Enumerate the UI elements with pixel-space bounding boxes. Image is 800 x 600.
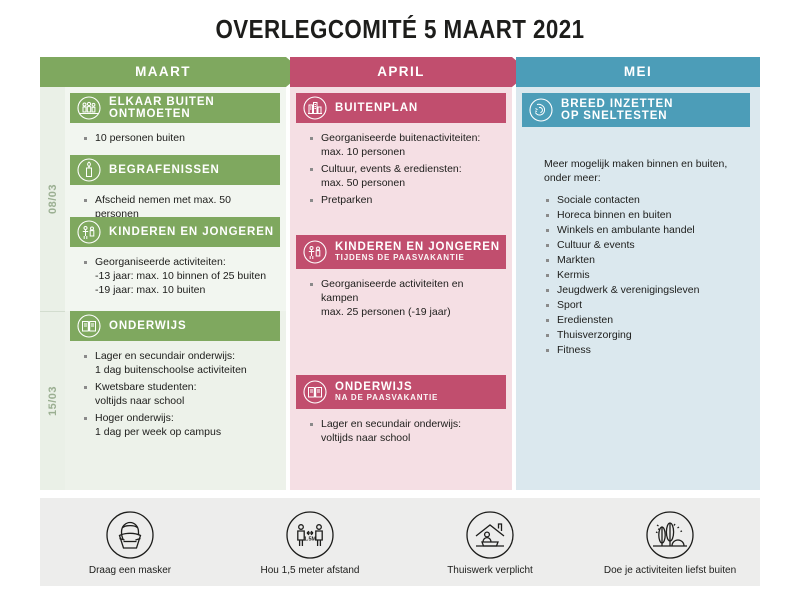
measure-label: Hou 1,5 meter afstand [261, 565, 360, 576]
card-onderwijs-maart[interactable]: ONDERWIJS Lager en secundair onderwijs: … [70, 311, 280, 448]
card-title-block: ONDERWIJS NA DE PAASVAKANTIE [335, 381, 438, 402]
social-distance-icon: 1.5M [283, 508, 337, 562]
card-buitenplan[interactable]: BUITENPLAN Georganiseerde buitenactivite… [296, 93, 506, 216]
card-body: Georganiseerde buitenactiviteiten: max. … [296, 123, 506, 216]
measures-footer: Draag een masker 1.5M [40, 498, 760, 586]
card-header: KINDEREN EN JONGEREN [70, 217, 280, 247]
card-title-line2: OP SNELTESTEN [561, 110, 668, 122]
card-body: Georganiseerde activiteiten: -13 jaar: m… [70, 247, 280, 306]
bullet-item: Jeugdwerk & verenigingsleven [544, 283, 740, 297]
measure-outdoor-activity[interactable]: Doe je activiteiten liefst buiten [580, 498, 760, 586]
date-segment-0: 08/03 [40, 87, 65, 311]
rapid-test-icon [528, 97, 554, 123]
card-header: BEGRAFENISSEN [70, 155, 280, 185]
bullet-item: Horeca binnen en buiten [544, 208, 740, 222]
date-label-0803: 08/03 [47, 184, 59, 214]
bullet-item: Markten [544, 253, 740, 267]
column-body-mei: BREED INZETTEN OP SNELTESTEN Meer mogeli… [516, 87, 760, 490]
open-book-icon [76, 313, 102, 339]
bullet-item: Pretparken [308, 193, 496, 207]
card-title-block: BREED INZETTEN OP SNELTESTEN [561, 98, 673, 123]
face-mask-icon [103, 508, 157, 562]
card-header: KINDEREN EN JONGEREN TIJDENS DE PAASVAKA… [296, 235, 506, 269]
card-bullet-list: Lager en secundair onderwijs: 1 dag buit… [82, 349, 270, 439]
measure-label: Draag een masker [89, 565, 171, 576]
date-rail-maart: 08/03 15/03 [40, 87, 65, 490]
card-subtitle: TIJDENS DE PAASVAKANTIE [335, 254, 500, 263]
children-youth-icon [302, 239, 328, 265]
card-kinderen-en-jongeren-maart[interactable]: KINDEREN EN JONGEREN Georganiseerde acti… [70, 217, 280, 306]
card-header: ELKAAR BUITEN ONTMOETEN [70, 93, 280, 123]
bullet-item: Georganiseerde activiteiten en kampen ma… [308, 277, 496, 319]
bullet-item: Georganiseerde activiteiten: -13 jaar: m… [82, 255, 270, 297]
card-intro-text: Meer mogelijk maken binnen en buiten, on… [544, 157, 740, 185]
column-maart: MAART 08/03 15/03 [40, 57, 286, 490]
card-kinderen-en-jongeren-april[interactable]: KINDEREN EN JONGEREN TIJDENS DE PAASVAKA… [296, 235, 506, 328]
column-header-maart: MAART [40, 57, 286, 87]
bullet-item: Lager en secundair onderwijs: voltijds n… [308, 417, 496, 445]
card-subtitle: NA DE PAASVAKANTIE [335, 394, 438, 403]
work-from-home-icon [463, 508, 517, 562]
candle-icon [76, 157, 102, 183]
card-onderwijs-april[interactable]: ONDERWIJS NA DE PAASVAKANTIE Lager en se… [296, 375, 506, 454]
bullet-item: Erediensten [544, 313, 740, 327]
card-title: ONDERWIJS [109, 320, 187, 332]
measure-work-from-home[interactable]: Thuiswerk verplicht [400, 498, 580, 586]
page-title: OVERLEGCOMITÉ 5 MAART 2021 [56, 14, 744, 45]
bullet-item: Kermis [544, 268, 740, 282]
bullet-item: Winkels en ambulante handel [544, 223, 740, 237]
card-breed-inzetten-op-sneltesten[interactable]: BREED INZETTEN OP SNELTESTEN Meer mogeli… [522, 93, 750, 364]
children-youth-icon [76, 219, 102, 245]
bullet-item: Kwetsbare studenten: voltijds naar schoo… [82, 380, 270, 408]
outdoor-activity-icon [643, 508, 697, 562]
infographic-root: OVERLEGCOMITÉ 5 MAART 2021 MAART 08/03 1… [0, 0, 800, 600]
bullet-item: Sociale contacten [544, 193, 740, 207]
open-book-icon [302, 379, 328, 405]
column-header-mei: MEI [516, 57, 760, 87]
date-label-1503: 15/03 [47, 385, 59, 415]
bullet-item: Sport [544, 298, 740, 312]
card-title: BREED INZETTEN [561, 98, 673, 110]
city-outdoor-icon [302, 95, 328, 121]
card-bullet-list: 10 personen buiten [82, 131, 270, 145]
card-header: ONDERWIJS NA DE PAASVAKANTIE [296, 375, 506, 409]
card-body: Meer mogelijk maken binnen en buiten, on… [522, 127, 750, 364]
card-bullet-list: Lager en secundair onderwijs: voltijds n… [308, 417, 496, 445]
bullet-item: Hoger onderwijs: 1 dag per week op campu… [82, 411, 270, 439]
timeline-columns: MAART 08/03 15/03 [40, 57, 760, 490]
card-body: 10 personen buiten [70, 123, 280, 154]
bullet-item: 10 personen buiten [82, 131, 270, 145]
card-title: ELKAAR BUITEN ONTMOETEN [109, 96, 280, 121]
measure-label: Doe je activiteiten liefst buiten [604, 565, 736, 576]
bullet-item: Fitness [544, 343, 740, 357]
card-bullet-list: Georganiseerde buitenactiviteiten: max. … [308, 131, 496, 207]
card-header: ONDERWIJS [70, 311, 280, 341]
card-bullet-list: Georganiseerde activiteiten: -13 jaar: m… [82, 255, 270, 297]
column-april: APRIL [290, 57, 512, 490]
card-title: BUITENPLAN [335, 102, 418, 114]
column-body-april: BUITENPLAN Georganiseerde buitenactivite… [290, 87, 512, 490]
card-bullet-list: Sociale contacten Horeca binnen en buite… [544, 193, 740, 357]
card-body: Georganiseerde activiteiten en kampen ma… [296, 269, 506, 328]
bullet-item: Cultuur, events & erediensten: max. 50 p… [308, 162, 496, 190]
measure-social-distance[interactable]: 1.5M Hou 1,5 meter afstand [220, 498, 400, 586]
measures-list: Draag een masker 1.5M [40, 498, 760, 586]
bullet-item: Lager en secundair onderwijs: 1 dag buit… [82, 349, 270, 377]
bullet-item: Georganiseerde buitenactiviteiten: max. … [308, 131, 496, 159]
column-mei: MEI [516, 57, 760, 490]
card-title: KINDEREN EN JONGEREN [335, 241, 500, 253]
card-title: BEGRAFENISSEN [109, 164, 220, 176]
measure-label: Thuiswerk verplicht [447, 565, 533, 576]
column-body-maart: 08/03 15/03 [40, 87, 286, 490]
distance-badge-label: 1.5M [304, 537, 317, 543]
date-segment-1: 15/03 [40, 311, 65, 490]
card-header: BUITENPLAN [296, 93, 506, 123]
column-header-april: APRIL [290, 57, 512, 87]
bullet-item: Thuisverzorging [544, 328, 740, 342]
card-title-block: KINDEREN EN JONGEREN TIJDENS DE PAASVAKA… [335, 241, 500, 262]
card-title: KINDEREN EN JONGEREN [109, 226, 274, 238]
card-body: Lager en secundair onderwijs: voltijds n… [296, 409, 506, 454]
card-header: BREED INZETTEN OP SNELTESTEN [522, 93, 750, 127]
card-body: Lager en secundair onderwijs: 1 dag buit… [70, 341, 280, 448]
card-title: ONDERWIJS [335, 381, 413, 393]
measure-face-mask[interactable]: Draag een masker [40, 498, 220, 586]
people-outdoors-icon [76, 95, 102, 121]
card-bullet-list: Georganiseerde activiteiten en kampen ma… [308, 277, 496, 319]
bullet-item: Cultuur & events [544, 238, 740, 252]
card-elkaar-buiten-ontmoeten[interactable]: ELKAAR BUITEN ONTMOETEN 10 personen buit… [70, 93, 280, 154]
